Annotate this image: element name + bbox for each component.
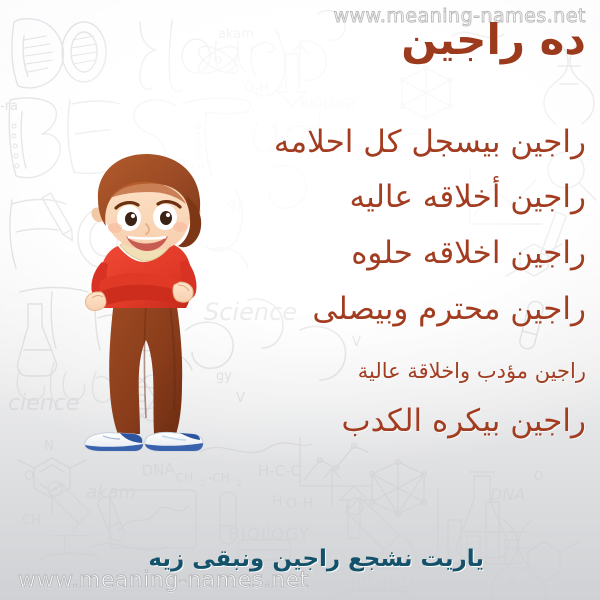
svg-text:N: N	[44, 439, 54, 454]
svg-text:-CH: -CH	[208, 471, 230, 485]
svg-text:DNA: DNA	[141, 460, 176, 480]
svg-text:2: 2	[200, 479, 206, 489]
svg-text:CH: CH	[22, 513, 41, 528]
svg-text:akam: akam	[218, 27, 254, 42]
cartoon-boy-illustration	[58, 152, 254, 452]
svg-text:2: 2	[236, 479, 242, 489]
svg-text:-ra: -ra	[0, 99, 18, 114]
name-line-1: راجين بيسجل كل احلامه	[274, 125, 586, 159]
svg-text:O-H: O-H	[244, 81, 269, 96]
name-line-3: راجين اخلاقه حلوه	[351, 236, 586, 270]
svg-text:V: V	[508, 575, 517, 589]
svg-text:akam: akam	[86, 482, 136, 503]
svg-text:O: O	[402, 574, 414, 592]
svg-text:V: V	[352, 335, 361, 350]
svg-text:2: 2	[374, 584, 380, 595]
name-line-5: راجين مؤدب واخلاقة عالية	[358, 360, 586, 383]
footer-message: ياريت نشجع راجين ونبقى زيه	[148, 546, 484, 572]
svg-text:H: H	[382, 574, 393, 592]
name-line-2: راجين أخلاقه عاليه	[350, 180, 586, 214]
svg-text:BIOLOGY: BIOLOGY	[228, 525, 310, 545]
svg-text:O-H: O-H	[286, 496, 313, 512]
poster-canvas: DNA CH 2 -CH 2 H-C-C H | O-H BIOLOGY HC …	[0, 0, 600, 600]
svg-text:CH: CH	[175, 470, 193, 485]
svg-text:DNA: DNA	[490, 485, 525, 504]
svg-text:2: 2	[416, 584, 422, 595]
page-title: ده راجين	[401, 16, 586, 64]
svg-text:BIOLOGY: BIOLOGY	[300, 97, 357, 112]
svg-text:H-C-C: H-C-C	[258, 462, 301, 480]
svg-text:HC: HC	[350, 574, 372, 592]
name-line-4: راجين محترم وبيصلى	[312, 292, 586, 326]
name-line-6: راجين بيكره الكدب	[342, 404, 587, 438]
svg-text:O: O	[534, 469, 543, 483]
svg-text:H: H	[272, 494, 283, 510]
svg-text:O: O	[24, 469, 34, 484]
